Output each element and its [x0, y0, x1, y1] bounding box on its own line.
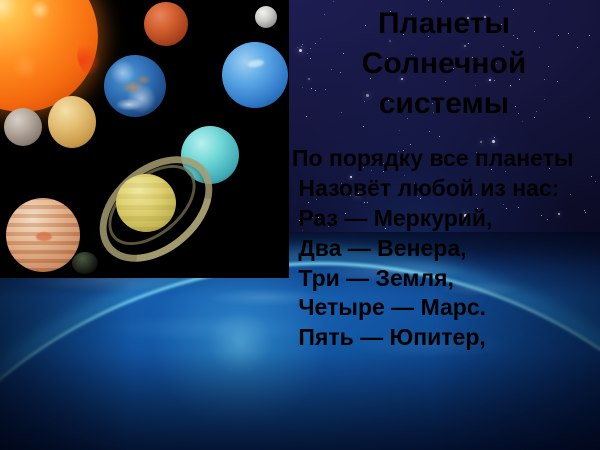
- neptune-icon: [222, 42, 288, 108]
- poem-line-5: Три — Земля,: [292, 264, 592, 294]
- mars-icon: [144, 2, 188, 46]
- title-line-2: Солнечной: [296, 44, 592, 84]
- poem-line-2: Назовёт любой из нас:: [292, 174, 592, 204]
- jupiter-great-red-spot: [36, 232, 52, 241]
- title-line-1: Планеты: [296, 4, 592, 44]
- saturn-icon: [86, 136, 212, 268]
- poem-text: По порядку все планеты Назовёт любой из …: [292, 144, 592, 353]
- earth-landmass: [104, 55, 166, 117]
- poem-line-1: По порядку все планеты: [292, 144, 592, 174]
- title-line-3: системы: [296, 84, 592, 124]
- poem-line-4: Два — Венера,: [292, 234, 592, 264]
- poem-line-6: Четыре — Марс.: [292, 293, 592, 323]
- page-title: Планеты Солнечной системы: [296, 4, 592, 124]
- saturn-ring-front: [79, 135, 232, 278]
- poem-line-7: Пять — Юпитер,: [292, 323, 592, 353]
- mercury-icon: [4, 108, 42, 146]
- moon-icon: [255, 6, 277, 28]
- poem-line-3: Раз — Меркурий,: [292, 204, 592, 234]
- presentation-slide: Планеты Солнечной системы По порядку все…: [0, 0, 600, 450]
- minor-body-icon: [72, 252, 98, 274]
- planets-collage-image: [0, 0, 289, 278]
